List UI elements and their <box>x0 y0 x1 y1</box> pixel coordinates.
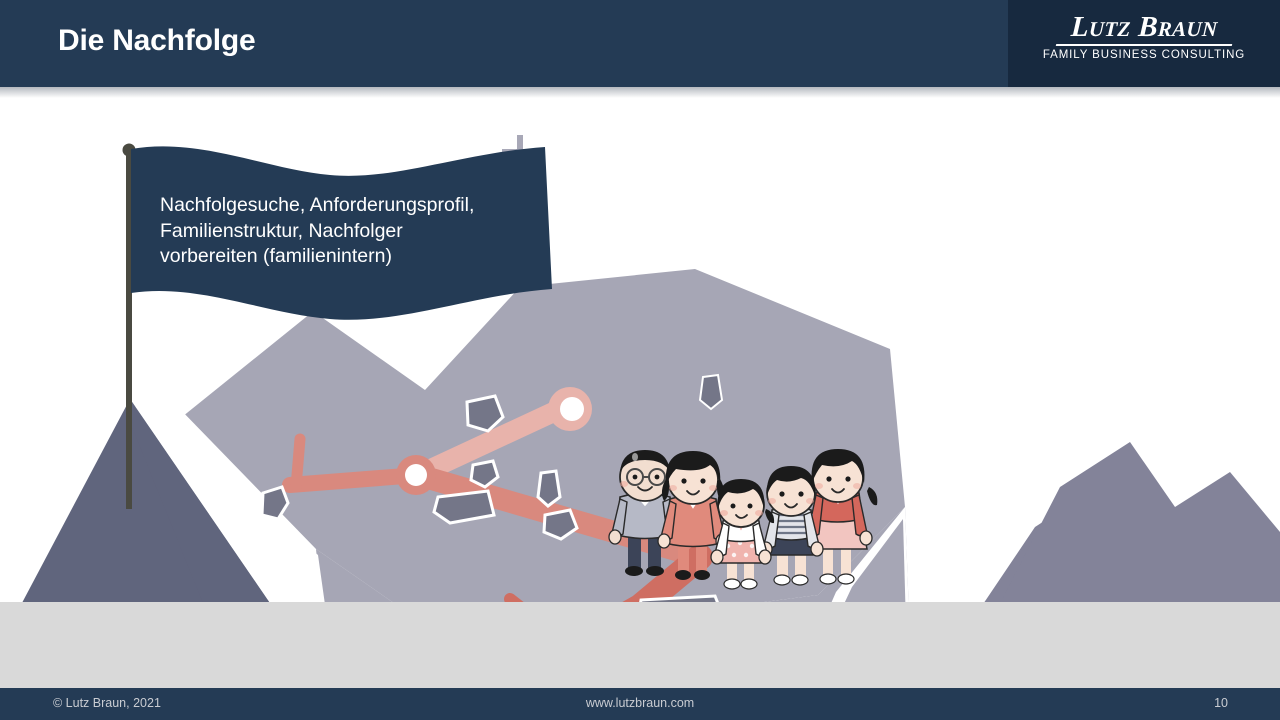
brand-logo-panel[interactable]: LUTZ BRAUN FAMILY BUSINESS CONSULTING <box>1008 0 1280 87</box>
logo-b: B <box>1137 11 1158 43</box>
page-title: Die Nachfolge <box>58 24 255 58</box>
brand-logo: LUTZ BRAUN FAMILY BUSINESS CONSULTING <box>1008 13 1280 62</box>
footer-page-number: 10 <box>1214 696 1228 710</box>
path-branch-up <box>296 439 300 487</box>
logo-utz: UTZ <box>1088 17 1131 41</box>
flag-text-block: Nachfolgesuche, Anforderungsprofil, Fami… <box>160 193 530 270</box>
brand-logo-wordmark: LUTZ BRAUN <box>1070 13 1218 42</box>
logo-raun: RAUN <box>1157 17 1218 41</box>
flag-text-line-3: vorbereiten (familienintern) <box>160 244 530 270</box>
brand-logo-underline <box>1056 44 1232 46</box>
slide-footer: © Lutz Braun, 2021 www.lutzbraun.com 10 <box>0 688 1280 720</box>
header-dropshadow <box>0 87 1280 98</box>
logo-l: L <box>1070 11 1090 43</box>
flag-text-line-1: Nachfolgesuche, Anforderungsprofil, <box>160 193 530 219</box>
slide-root: Nachfolgesuche, Anforderungsprofil, Fami… <box>0 0 1280 720</box>
brand-logo-tagline: FAMILY BUSINESS CONSULTING <box>1008 50 1280 62</box>
flag-text-line-2: Familienstruktur, Nachfolger <box>160 219 530 245</box>
slide-header: Die Nachfolge LUTZ BRAUN FAMILY BUSINESS… <box>0 0 1280 87</box>
bottom-gray-band <box>0 602 1280 688</box>
waypoint-top <box>548 387 592 431</box>
footer-website[interactable]: www.lutzbraun.com <box>0 696 1280 710</box>
waypoint-junction <box>396 455 436 495</box>
